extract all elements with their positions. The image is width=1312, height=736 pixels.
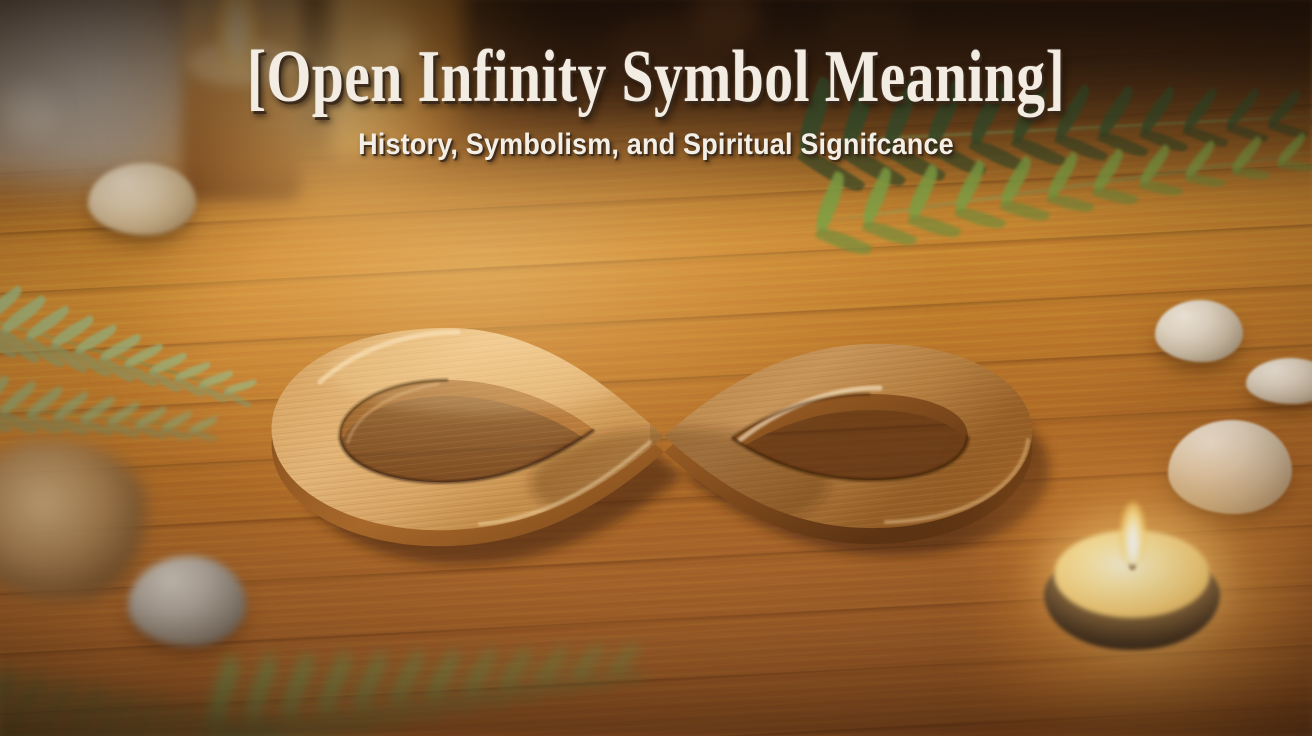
banner-image: [Open Infinity Symbol Meaning] History, … bbox=[0, 0, 1312, 736]
vignette bbox=[0, 0, 1312, 736]
